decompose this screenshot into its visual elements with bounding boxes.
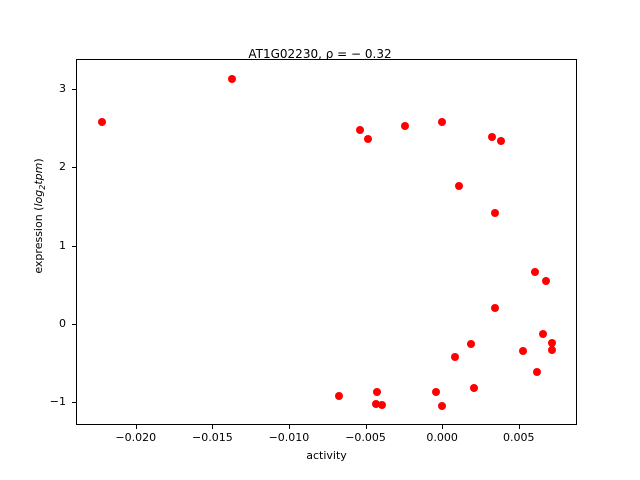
y-tick-mark — [72, 89, 76, 90]
data-point — [373, 388, 381, 396]
x-tick-mark — [212, 425, 213, 429]
x-tick-mark — [289, 425, 290, 429]
x-tick-mark — [136, 425, 137, 429]
data-point — [488, 133, 496, 141]
y-tick-mark — [72, 167, 76, 168]
data-point — [455, 182, 463, 190]
x-tick-mark — [519, 425, 520, 429]
y-tick-mark — [72, 324, 76, 325]
scatter-plot-figure: AT1G02230, ρ = − 0.32 arTal_v1_Chr1_-_43… — [0, 0, 640, 480]
data-point — [438, 118, 446, 126]
y-axis-label: expression (log2tpm) — [32, 16, 47, 416]
x-tick-label: −0.005 — [331, 431, 401, 444]
data-point — [470, 384, 478, 392]
data-point — [451, 353, 459, 361]
data-point — [539, 330, 547, 338]
x-axis-label: activity — [76, 449, 577, 462]
y-tick-mark — [72, 246, 76, 247]
data-point — [467, 340, 475, 348]
data-point — [378, 401, 386, 409]
data-point — [228, 75, 236, 83]
scatter-points-layer — [77, 60, 576, 424]
data-point — [531, 268, 539, 276]
data-point — [491, 304, 499, 312]
y-tick-mark — [72, 402, 76, 403]
data-point — [401, 122, 409, 130]
data-point — [356, 126, 364, 134]
y-axis-label-math-unit: tpm — [32, 163, 45, 185]
data-point — [432, 388, 440, 396]
x-tick-mark — [442, 425, 443, 429]
y-axis-label-math-base: log — [32, 190, 45, 207]
data-point — [438, 402, 446, 410]
data-point — [335, 392, 343, 400]
y-axis-label-suffix: ) — [32, 158, 45, 162]
x-tick-mark — [366, 425, 367, 429]
x-tick-label: 0.005 — [484, 431, 554, 444]
data-point — [98, 118, 106, 126]
y-axis-label-math-sub: 2 — [38, 185, 47, 190]
data-point — [519, 347, 527, 355]
data-point — [497, 137, 505, 145]
data-point — [548, 346, 556, 354]
data-point — [491, 209, 499, 217]
plot-area — [76, 59, 577, 425]
data-point — [542, 277, 550, 285]
y-axis-label-prefix: expression ( — [32, 207, 45, 274]
x-tick-label: −0.015 — [177, 431, 247, 444]
x-tick-label: −0.020 — [101, 431, 171, 444]
x-tick-label: 0.000 — [407, 431, 477, 444]
x-tick-label: −0.010 — [254, 431, 324, 444]
data-point — [364, 135, 372, 143]
data-point — [533, 368, 541, 376]
